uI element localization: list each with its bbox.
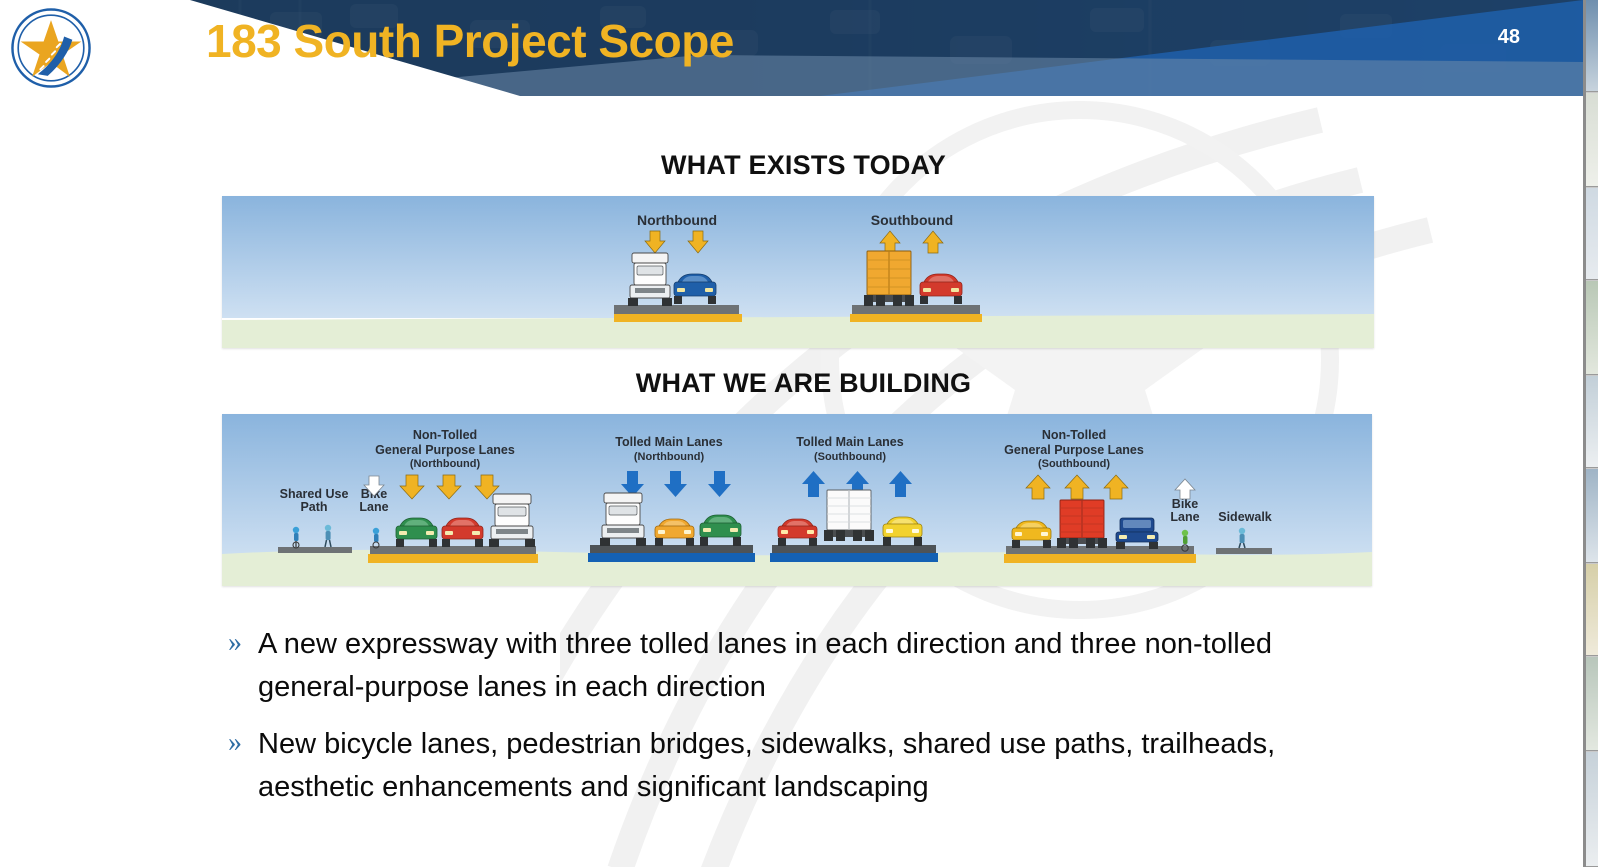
gp-sb-retaining-wall: [1004, 554, 1196, 563]
shared-use-path-deck: [278, 547, 352, 553]
label-tolled-nb-line2: (Northbound): [634, 451, 705, 463]
label-gp-nb-line1: Non-Tolled: [413, 428, 477, 442]
arrow-up-group-gp-sb: [1026, 475, 1128, 499]
thumbnail-item[interactable]: [1586, 657, 1598, 751]
thumbnail-item[interactable]: [1586, 469, 1598, 563]
tolled-sb-structure: [770, 553, 938, 562]
bullet-marker-icon: »: [228, 623, 258, 663]
label-tolled-nb-line1: Tolled Main Lanes: [615, 435, 722, 449]
page-title: 183 South Project Scope: [206, 14, 734, 68]
proposed-cross-section-diagram: Shared Use Path Bike: [222, 414, 1372, 586]
tolled-sb-deck: [772, 545, 936, 553]
thumbnail-item[interactable]: [1586, 752, 1598, 867]
tolled-nb-structure: [588, 553, 755, 562]
label-southbound: Southbound: [871, 212, 953, 228]
slide-header: 183 South Project Scope 48: [0, 0, 1583, 96]
thumbnail-item[interactable]: [1586, 376, 1598, 468]
thumbnail-item[interactable]: [1586, 188, 1598, 280]
gp-nb-retaining-wall: [368, 554, 538, 563]
slide-root: 183 South Project Scope 48 WHAT EXISTS T…: [0, 0, 1598, 867]
bullet-marker-icon: »: [228, 723, 258, 763]
bullet-item-2: » New bicycle lanes, pedestrian bridges,…: [228, 723, 1348, 809]
section-heading-existing: WHAT EXISTS TODAY: [12, 150, 1583, 181]
thumbnail-item[interactable]: [1586, 93, 1598, 187]
bullet-text-1: A new expressway with three tolled lanes…: [258, 623, 1348, 709]
vehicle-box-truck-red-gp-sb: [1057, 500, 1107, 548]
thumbnail-item[interactable]: [1586, 281, 1598, 375]
label-gp-sb-line1: Non-Tolled: [1042, 428, 1106, 442]
label-gp-sb-line3: (Southbound): [1038, 458, 1110, 470]
arrow-down-group-gp-nb: [400, 475, 499, 499]
bullet-list: » A new expressway with three tolled lan…: [228, 623, 1348, 823]
vehicle-semi-truck-white-tolled-nb: [600, 493, 646, 546]
slide-thumbnail-strip[interactable]: [1586, 0, 1598, 867]
sidewalk-deck: [1216, 548, 1272, 554]
bullet-item-1: » A new expressway with three tolled lan…: [228, 623, 1348, 709]
label-shared-use-path-line2: Path: [300, 500, 327, 514]
vehicle-semi-truck-white-gp-nb: [489, 494, 535, 547]
label-sidewalk: Sidewalk: [1218, 510, 1272, 524]
retaining-wall: [614, 314, 742, 322]
label-bike-lane-nb-line2: Lane: [359, 500, 388, 514]
label-bike-lane-sb-line2: Lane: [1170, 510, 1199, 524]
slide-canvas: 183 South Project Scope 48 WHAT EXISTS T…: [0, 0, 1583, 867]
mobility-authority-star-logo: [10, 7, 92, 89]
thumbnail-item[interactable]: [1586, 0, 1598, 92]
label-shared-use-path-line1: Shared Use: [280, 487, 349, 501]
label-northbound: Northbound: [637, 212, 717, 228]
label-gp-sb-line2: General Purpose Lanes: [1004, 443, 1144, 457]
existing-cross-section-diagram: Northbound: [222, 196, 1374, 348]
label-gp-nb-line3: (Northbound): [410, 458, 481, 470]
vehicle-box-truck-orange: [864, 251, 914, 306]
label-gp-nb-line2: General Purpose Lanes: [375, 443, 515, 457]
tolled-nb-deck: [590, 545, 753, 553]
section-heading-building: WHAT WE ARE BUILDING: [12, 368, 1583, 399]
vehicle-semi-truck-white: [628, 253, 672, 306]
thumbnail-item[interactable]: [1586, 564, 1598, 656]
label-tolled-sb-line1: Tolled Main Lanes: [796, 435, 903, 449]
vehicle-semi-trailer-white-tolled-sb: [824, 490, 874, 541]
bullet-text-2: New bicycle lanes, pedestrian bridges, s…: [258, 723, 1348, 809]
gp-nb-deck: [370, 546, 536, 554]
roadway-deck: [614, 305, 739, 314]
page-number: 48: [1498, 26, 1520, 49]
label-tolled-sb-line2: (Southbound): [814, 451, 886, 463]
